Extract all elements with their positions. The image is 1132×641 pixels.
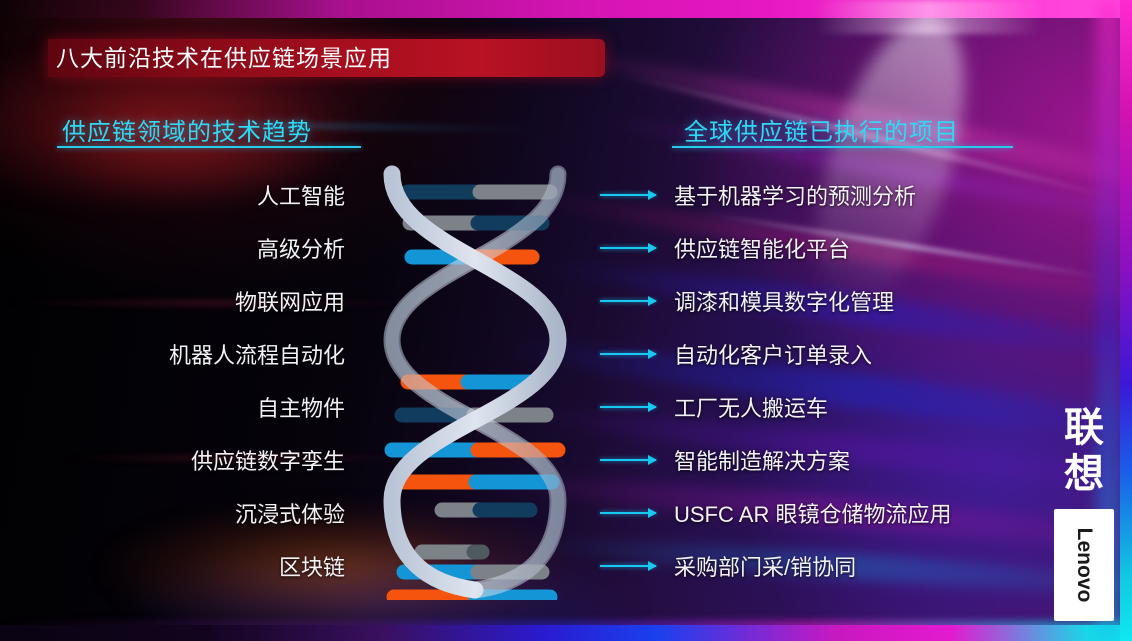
trend-label: 自主物件 [257, 391, 345, 423]
project-label: 调漆和模具数字化管理 [674, 285, 894, 317]
arrow-row [600, 221, 666, 274]
technology-trends-list: 人工智能 高级分析 物联网应用 机器人流程自动化 自主物件 供应链数字孪生 沉浸… [40, 168, 345, 592]
trend-label: 沉浸式体验 [235, 497, 345, 529]
project-label: 自动化客户订单录入 [674, 338, 872, 370]
left-header-underline [57, 146, 361, 148]
list-item: 调漆和模具数字化管理 [674, 274, 1074, 327]
project-label: 采购部门采/销协同 [674, 550, 856, 582]
arrow-right-icon [600, 247, 656, 249]
arrow-row [600, 327, 666, 380]
arrow-row [600, 433, 666, 486]
arrow-row [600, 168, 666, 221]
arrow-right-icon [600, 353, 656, 355]
list-item: 沉浸式体验 [40, 486, 345, 539]
list-item: 采购部门采/销协同 [674, 539, 1074, 592]
arrow-right-icon [600, 565, 656, 567]
dna-helix-graphic [370, 160, 580, 600]
list-item: 基于机器学习的预测分析 [674, 168, 1074, 221]
trend-label: 机器人流程自动化 [169, 338, 345, 370]
project-label: 供应链智能化平台 [674, 232, 850, 264]
list-item: 人工智能 [40, 168, 345, 221]
right-header-underline [672, 146, 1013, 148]
bottom-accent-band [0, 625, 1132, 641]
list-item: 区块链 [40, 539, 345, 592]
trend-label: 高级分析 [257, 232, 345, 264]
lenovo-logo: 联想 Lenovo [1050, 405, 1118, 623]
trend-label: 供应链数字孪生 [191, 444, 345, 476]
arrow-row [600, 539, 666, 592]
lenovo-logo-chinese: 联想 [1050, 405, 1118, 501]
connector-arrows [600, 168, 666, 592]
project-label: 智能制造解决方案 [674, 444, 850, 476]
project-label: 基于机器学习的预测分析 [674, 179, 916, 211]
arrow-right-icon [600, 512, 656, 514]
arrow-right-icon [600, 300, 656, 302]
executed-projects-list: 基于机器学习的预测分析 供应链智能化平台 调漆和模具数字化管理 自动化客户订单录… [674, 168, 1074, 592]
right-accent-edge [1120, 0, 1132, 641]
list-item: 智能制造解决方案 [674, 433, 1074, 486]
arrow-right-icon [600, 406, 656, 408]
arrow-row [600, 274, 666, 327]
list-item: 自主物件 [40, 380, 345, 433]
list-item: USFC AR 眼镜仓储物流应用 [674, 486, 1074, 539]
list-item: 高级分析 [40, 221, 345, 274]
list-item: 工厂无人搬运车 [674, 380, 1074, 433]
arrow-row [600, 380, 666, 433]
arrow-right-icon [600, 194, 656, 196]
right-column-header: 全球供应链已执行的项目 [684, 112, 959, 147]
page-title: 八大前沿技术在供应链场景应用 [56, 42, 616, 74]
list-item: 物联网应用 [40, 274, 345, 327]
list-item: 机器人流程自动化 [40, 327, 345, 380]
project-label: 工厂无人搬运车 [674, 391, 828, 423]
arrow-row [600, 486, 666, 539]
top-band-sheen [0, 0, 1132, 34]
arrow-right-icon [600, 459, 656, 461]
trend-label: 区块链 [279, 550, 345, 582]
lenovo-logo-box: Lenovo [1054, 509, 1114, 621]
list-item: 供应链智能化平台 [674, 221, 1074, 274]
left-column-header: 供应链领域的技术趋势 [62, 112, 312, 147]
project-label: USFC AR 眼镜仓储物流应用 [674, 497, 951, 529]
slide-canvas: 八大前沿技术在供应链场景应用 供应链领域的技术趋势 全球供应链已执行的项目 人工… [0, 0, 1132, 641]
lenovo-logo-wordmark: Lenovo [1072, 509, 1096, 621]
trend-label: 物联网应用 [235, 285, 345, 317]
trend-label: 人工智能 [257, 179, 345, 211]
list-item: 供应链数字孪生 [40, 433, 345, 486]
list-item: 自动化客户订单录入 [674, 327, 1074, 380]
